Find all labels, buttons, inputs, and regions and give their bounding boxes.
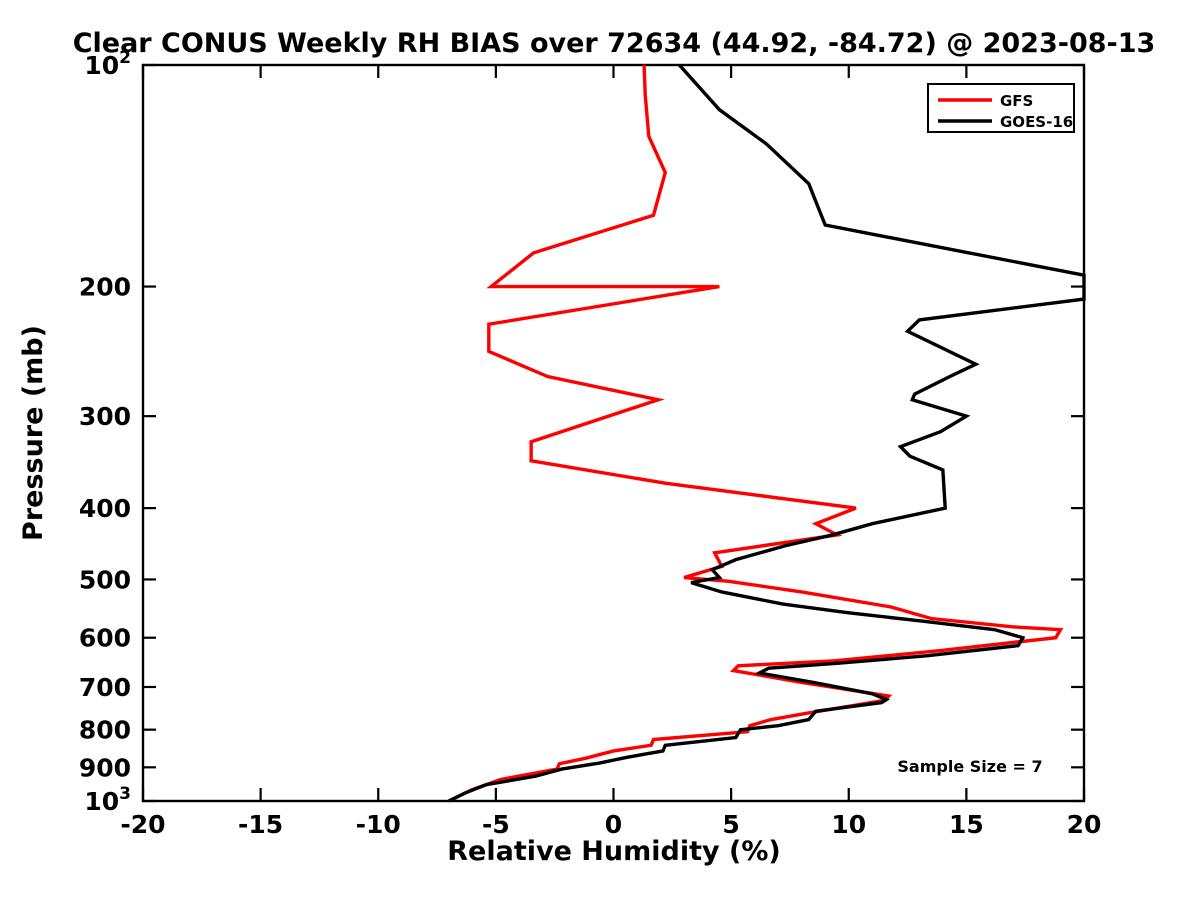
series-line-goes-16 [449,65,1084,801]
data-series-group [449,65,1084,801]
sample-size-annotation: Sample Size = 7 [897,757,1042,776]
y-tick-label: 200 [79,273,131,302]
y-axis-title: Pressure (mb) [18,325,49,541]
legend-label-gfs: GFS [1000,92,1033,110]
y-tick-label: 800 [79,716,131,745]
x-tick-label: 10 [831,810,866,839]
x-axis-ticks: -20-15-10-505101520 [120,65,1101,839]
x-axis-title: Relative Humidity (%) [447,836,780,867]
y-axis-ticks: 102200300400500600700800900103 [79,48,1084,816]
x-tick-label: -15 [238,810,283,839]
x-tick-label: 20 [1067,810,1102,839]
plot-frame [143,65,1084,801]
x-tick-label: -20 [120,810,165,839]
x-tick-label: -5 [482,810,510,839]
y-tick-label: 600 [79,624,131,653]
y-tick-label: 500 [79,565,131,594]
x-tick-label: -10 [356,810,401,839]
x-tick-label: 5 [722,810,739,839]
y-tick-label: 400 [79,494,131,523]
legend-label-goes-16: GOES-16 [1000,113,1073,131]
y-tick-label: 700 [79,673,131,702]
chart-legend: GFSGOES-16 [928,84,1074,132]
x-tick-label: 15 [949,810,984,839]
y-tick-label: 300 [79,402,131,431]
y-tick-label: 900 [79,753,131,782]
rh-bias-profile-chart: Clear CONUS Weekly RH BIAS over 72634 (4… [0,0,1200,900]
y-tick-label: 102 [84,48,131,80]
chart-title: Clear CONUS Weekly RH BIAS over 72634 (4… [73,28,1156,59]
x-tick-label: 0 [605,810,622,839]
series-line-gfs [449,65,1061,801]
figure-container: Clear CONUS Weekly RH BIAS over 72634 (4… [0,0,1200,900]
